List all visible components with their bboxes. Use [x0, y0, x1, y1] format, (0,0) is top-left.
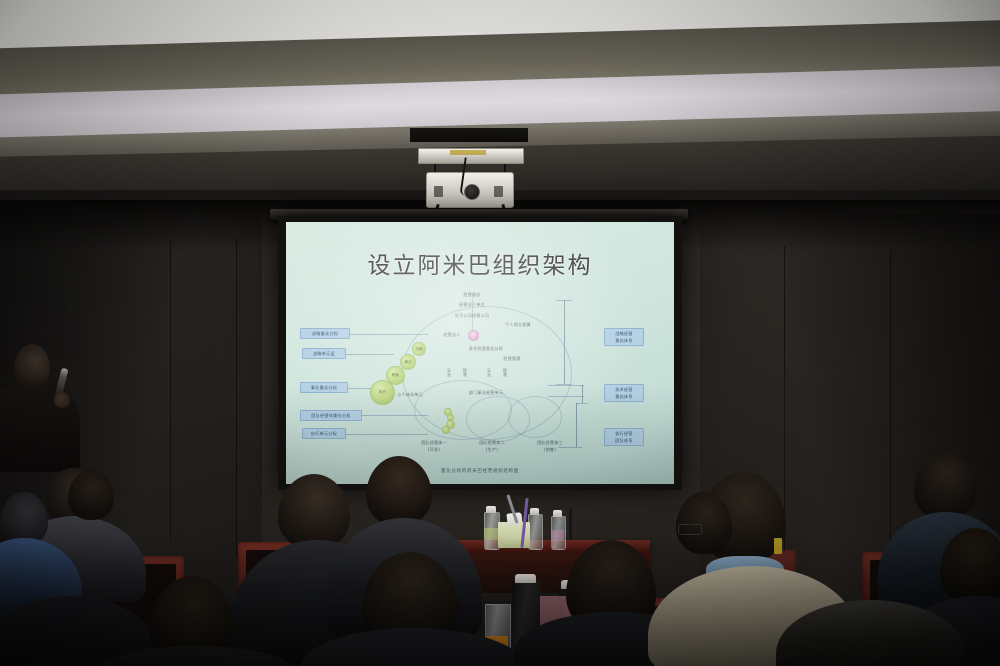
diagram-center-text: 责任经营量化分权: [452, 346, 520, 352]
slide-title: 设立阿米巴组织架构: [286, 246, 674, 280]
projector-brand-plate: [450, 150, 486, 155]
diagram-grid-text: 企业: [484, 368, 492, 377]
water-bottle-label: [484, 528, 498, 540]
diagram-grid-text: 经营: [460, 368, 468, 377]
connector-line: [346, 354, 394, 355]
wall-seam: [890, 250, 891, 550]
bracket-tick: [558, 447, 582, 448]
diagram-node-blob-small: [442, 426, 450, 434]
diagram-center-text: 个人独立核算: [490, 322, 546, 328]
audience-head: [676, 492, 732, 554]
diagram-center-text: 小个体化单元: [384, 392, 436, 398]
yellow-badge: [774, 538, 782, 554]
diagram-center-text: 经营理念: [452, 292, 492, 298]
audience-head: [68, 470, 114, 520]
bracket-main-vertical: [564, 300, 565, 384]
wall-seam: [236, 238, 237, 558]
diagram-bottom-node-label: 团队经营体一: [414, 440, 454, 446]
diagram-center-text: 经营法人单位: [444, 302, 500, 308]
diagram-left-label: 事业量化分权: [300, 382, 348, 393]
diagram-center-text: 部门事业经营单元: [452, 390, 520, 396]
water-bottle-cap: [486, 506, 496, 513]
connector-line: [350, 334, 428, 335]
right-label-line2: 量化体系: [607, 338, 641, 345]
projector-vent: [434, 186, 443, 197]
right-label-line2: 量化体系: [607, 394, 641, 401]
diagram-bottom-node-sub: (开发): [414, 447, 454, 453]
diagram-bottom-node-label: 团队经营体二: [472, 440, 512, 446]
diagram-bottom-node-sub: (生产): [472, 447, 512, 453]
diagram-right-label: 技术经营 量化体系: [604, 384, 644, 402]
diagram-grid-text: 经营: [500, 368, 508, 377]
bracket-tick: [548, 396, 584, 397]
diagram-arc-small: [508, 396, 562, 438]
water-bottle: [528, 514, 543, 550]
diagram-right-label: 战略经营 量化体系: [604, 328, 644, 346]
water-bottle-label: [551, 530, 564, 541]
diagram-left-label: 团队经营体量化分权: [300, 410, 362, 421]
wall-seam: [170, 240, 171, 540]
connector-line: [346, 434, 428, 435]
diagram-center-text: 经营法人: [432, 332, 472, 338]
presenter-hand: [54, 392, 70, 408]
diagram-bottom-node-label: 团队经营体三: [530, 440, 570, 446]
water-bottle-cap: [553, 510, 562, 517]
bracket-tick: [548, 385, 584, 386]
right-label-line2: 团队体系: [607, 438, 641, 445]
diagram-node-blob: 事业: [400, 354, 416, 370]
projection-screen: 设立阿米巴组织架构 战略量化分权 战略单元层 事业量化分权 团队经营体量化分权 …: [286, 222, 674, 484]
connector-line: [362, 415, 428, 416]
bracket-tick: [556, 300, 572, 301]
diagram-grid-text: 企业: [444, 368, 452, 377]
presenter-head: [14, 344, 50, 388]
diagram-right-label: 执行经营 团队体系: [604, 428, 644, 446]
slide-diagram: 战略量化分权 战略单元层 事业量化分权 团队经营体量化分权 执行单元分权 战略 …: [286, 284, 674, 464]
thermos-flask-cap: [515, 574, 536, 583]
bracket-sub-vertical: [582, 385, 583, 403]
slide-caption: 量化分权的阿米巴经营组织结构图: [286, 468, 674, 474]
diagram-center-text: 经营管理: [492, 356, 532, 362]
black-pen: [569, 508, 572, 540]
diagram-left-label: 战略量化分权: [300, 328, 350, 339]
diagram-node-blob: 战略: [412, 342, 426, 356]
bracket-lower-vertical: [576, 403, 577, 447]
projector-ceiling-plate: [410, 128, 528, 142]
projector-vent: [494, 186, 503, 197]
eyeglasses-icon: [678, 524, 702, 535]
diagram-center-text: 分子公司经营公司: [438, 313, 506, 319]
conference-room-photo: 设立阿米巴组织架构 战略量化分权 战略单元层 事业量化分权 团队经营体量化分权 …: [0, 0, 1000, 666]
diagram-left-label: 战略单元层: [302, 348, 346, 359]
bracket-tick: [576, 403, 588, 404]
diagram-left-label: 执行单元分权: [302, 428, 346, 439]
water-bottle-cap: [530, 508, 539, 515]
